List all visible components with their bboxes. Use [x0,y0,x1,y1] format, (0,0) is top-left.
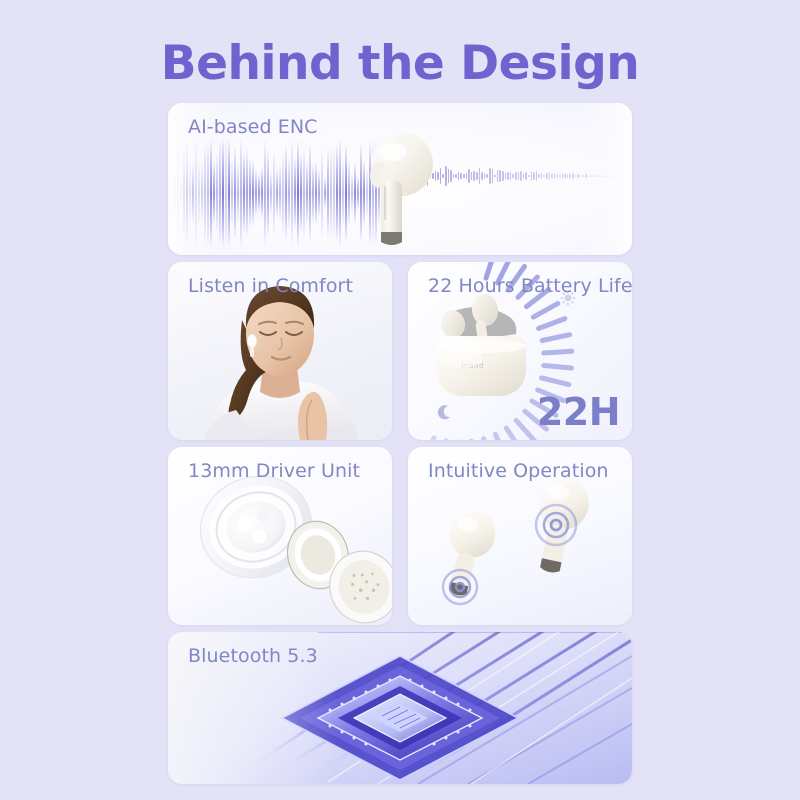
card-label-comfort: Listen in Comfort [188,275,353,297]
card-label-battery: 22 Hours Battery Life [428,275,632,297]
earbud-illustration [358,128,440,250]
charging-case-with-earbuds: brand [422,288,540,406]
waveform-fade-right [586,103,632,255]
feature-card-bluetooth[interactable]: Bluetooth 5.3 [168,632,632,784]
product-feature-infographic: Behind the Design [0,0,800,800]
feature-card-intuitive-operation[interactable]: Intuitive Operation [408,447,632,625]
feature-card-ai-based-enc[interactable]: AI-based ENC [168,103,632,255]
feature-card-battery-life[interactable]: brand 22H 22 Hours Battery Life [408,262,632,440]
feature-card-driver-unit[interactable]: 13mm Driver Unit [168,447,392,625]
page-title: Behind the Design [0,36,800,91]
card-label-touch: Intuitive Operation [428,460,609,482]
card-label-driver: 13mm Driver Unit [188,460,360,482]
feature-card-listen-in-comfort[interactable]: Listen in Comfort [168,262,392,440]
moon-icon [438,405,450,419]
card-label-bluetooth: Bluetooth 5.3 [188,645,318,667]
battery-hours-badge: 22H [537,390,620,434]
card-label-enc: AI-based ENC [188,116,318,138]
